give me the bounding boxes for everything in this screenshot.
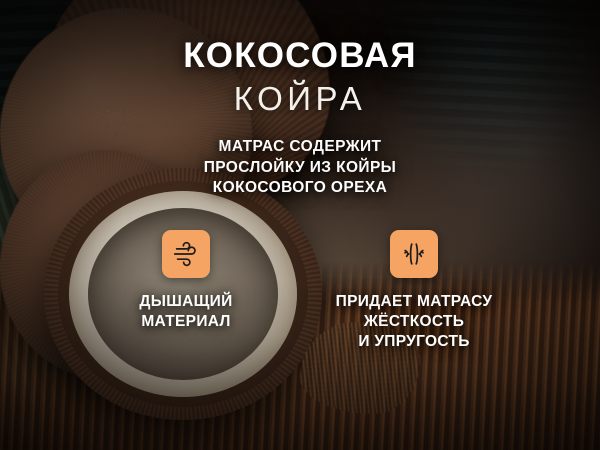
feature-firmness-badge — [390, 230, 438, 278]
poster: КОКОСОВАЯ КОЙРА МАТРАС СОДЕРЖИТ ПРОСЛОЙК… — [0, 0, 600, 450]
feature-breathable: ДЫШАЩИЙ МАТЕРИАЛ — [88, 230, 284, 332]
feature-firmness-label-line-1: ПРИДАЕТ МАТРАСУ — [336, 292, 493, 312]
wind-icon — [171, 239, 201, 269]
lede-line-2: ПРОСЛОЙКУ ИЗ КОЙРЫ — [204, 158, 397, 179]
feature-firmness: ПРИДАЕТ МАТРАСУ ЖЁСТКОСТЬ И УПРУГОСТЬ — [316, 230, 512, 351]
feature-firmness-label-line-2: ЖЁСТКОСТЬ — [336, 312, 493, 332]
feature-breathable-label: ДЫШАЩИЙ МАТЕРИАЛ — [139, 292, 232, 332]
headline-line-1: КОКОСОВАЯ — [183, 38, 417, 73]
lede-line-3: КОКОСОВОГО ОРЕХА — [204, 178, 397, 199]
compression-elasticity-icon — [399, 239, 429, 269]
feature-list: ДЫШАЩИЙ МАТЕРИАЛ ПРИДА — [0, 230, 600, 351]
lede-text: МАТРАС СОДЕРЖИТ ПРОСЛОЙКУ ИЗ КОЙРЫ КОКОС… — [204, 137, 397, 199]
feature-firmness-label: ПРИДАЕТ МАТРАСУ ЖЁСТКОСТЬ И УПРУГОСТЬ — [336, 292, 493, 351]
feature-breathable-label-line-1: ДЫШАЩИЙ — [139, 292, 232, 312]
poster-content: КОКОСОВАЯ КОЙРА МАТРАС СОДЕРЖИТ ПРОСЛОЙК… — [0, 0, 600, 450]
feature-breathable-badge — [162, 230, 210, 278]
lede-line-1: МАТРАС СОДЕРЖИТ — [204, 137, 397, 158]
headline-line-2: КОЙРА — [234, 82, 367, 115]
feature-firmness-label-line-3: И УПРУГОСТЬ — [336, 332, 493, 352]
feature-breathable-label-line-2: МАТЕРИАЛ — [139, 312, 232, 332]
